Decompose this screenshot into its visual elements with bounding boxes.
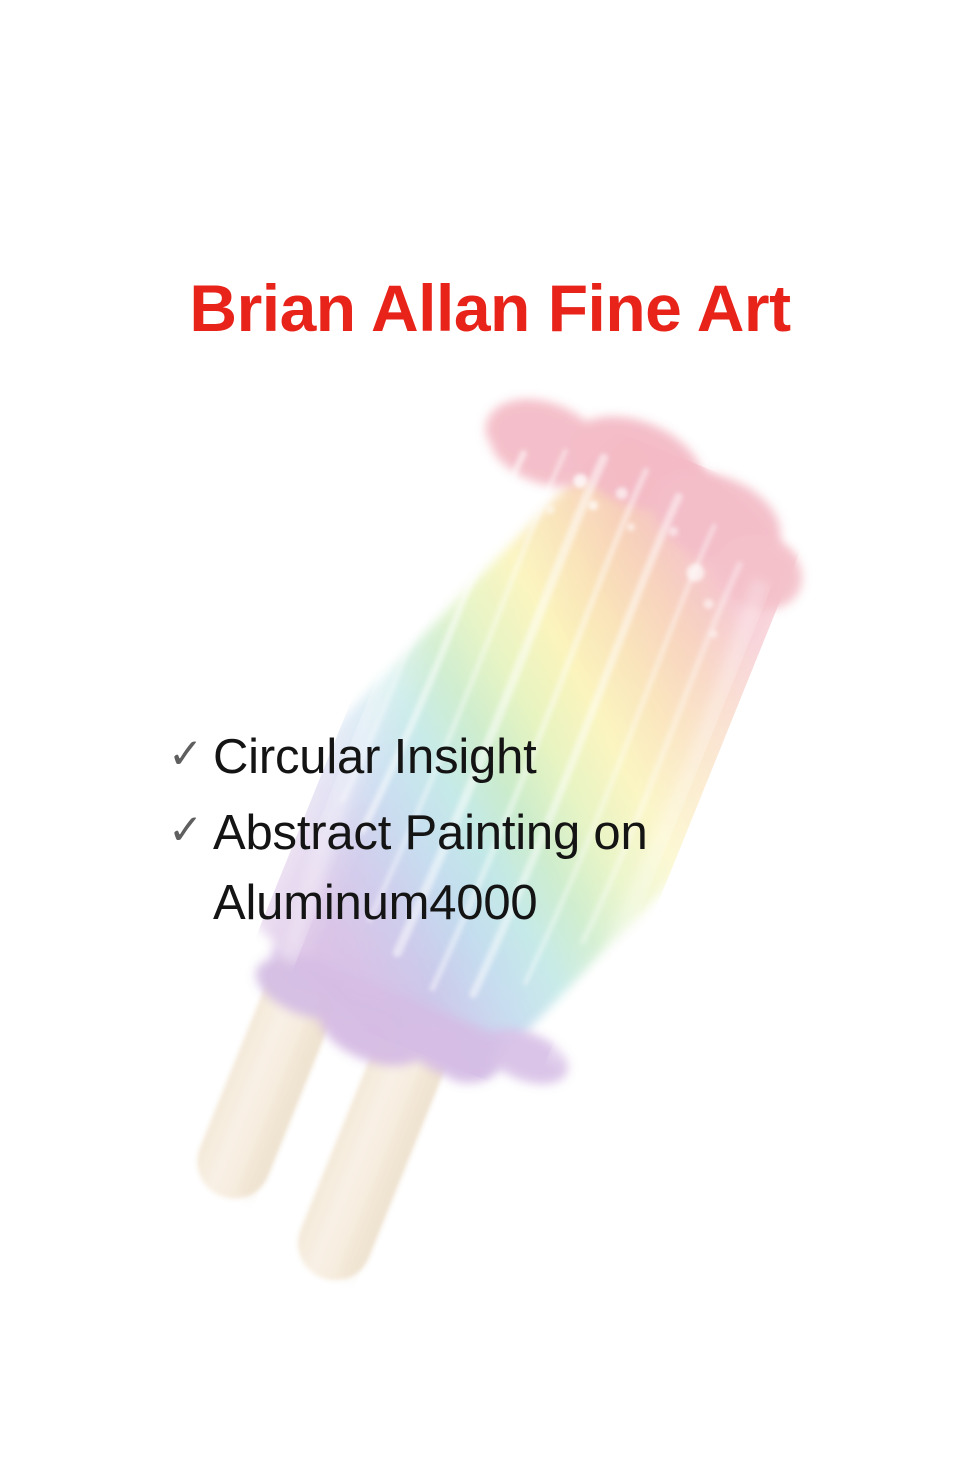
- list-item-label: Circular Insight: [213, 722, 808, 792]
- feature-list: ✓ Circular Insight ✓ Abstract Painting o…: [168, 722, 808, 944]
- check-icon: ✓: [168, 798, 213, 862]
- slide-canvas: Brian Allan Fine Art ✓ Circular Insight …: [0, 0, 980, 1470]
- page-title: Brian Allan Fine Art: [0, 272, 980, 344]
- popsicle-sticks: [172, 939, 468, 1291]
- list-item: ✓ Abstract Painting on Aluminum4000: [168, 798, 808, 938]
- check-icon: ✓: [168, 722, 213, 786]
- list-item: ✓ Circular Insight: [168, 722, 808, 792]
- list-item-label: Abstract Painting on Aluminum4000: [213, 798, 808, 938]
